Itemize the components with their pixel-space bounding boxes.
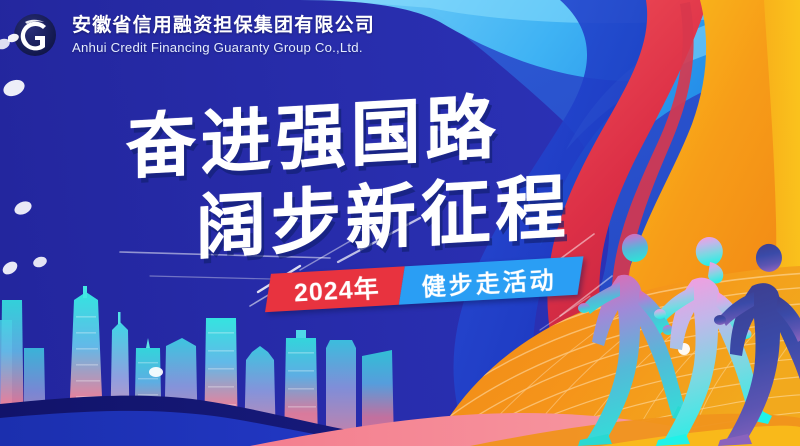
background-artwork (0, 0, 800, 446)
subtitle-event-label: 健步走活动 (420, 259, 557, 301)
anhui-guaranty-g-logo-icon (8, 8, 62, 62)
company-name-en: Anhui Credit Financing Guaranty Group Co… (72, 41, 375, 54)
subtitle-year-segment: 2024年 (265, 266, 404, 312)
subtitle-year-label: 2024年 (293, 269, 381, 310)
company-name-block: 安徽省信用融资担保集团有限公司 Anhui Credit Financing G… (72, 16, 375, 54)
promotional-banner: 安徽省信用融资担保集团有限公司 Anhui Credit Financing G… (0, 0, 800, 446)
company-name-cn: 安徽省信用融资担保集团有限公司 (72, 16, 375, 35)
company-lockup: 安徽省信用融资担保集团有限公司 Anhui Credit Financing G… (8, 8, 375, 62)
